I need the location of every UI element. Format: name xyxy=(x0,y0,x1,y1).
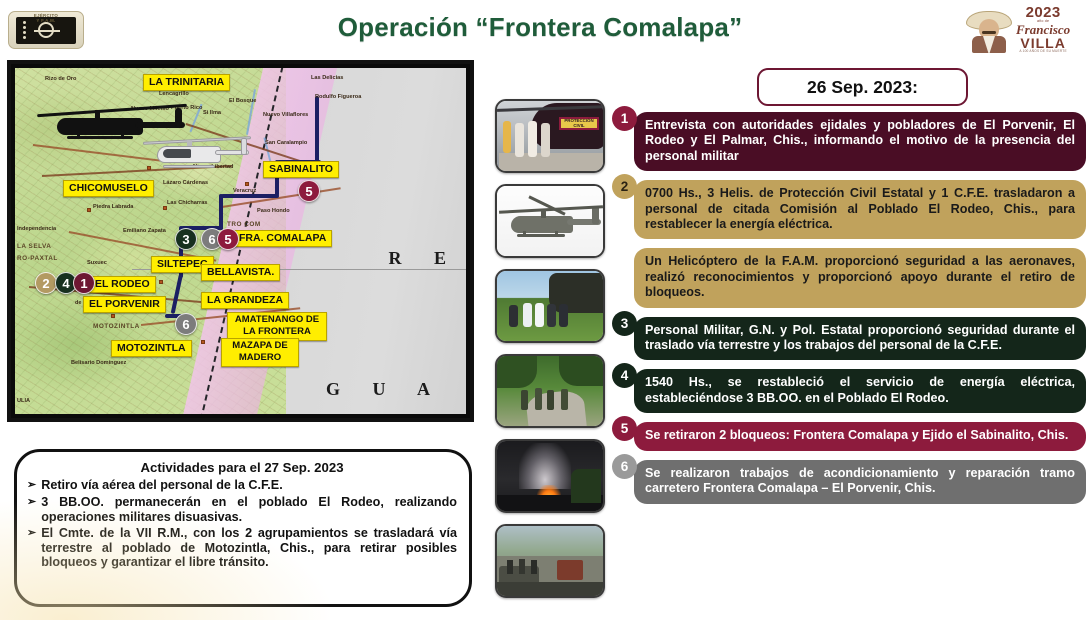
map-place-name: Las Delicias xyxy=(311,75,343,81)
map-place-name: Las Chicharras xyxy=(167,200,207,206)
map-place-name: Lázaro Cárdenas xyxy=(163,180,208,186)
map-label-el-rodeo[interactable]: EL RODEO xyxy=(89,276,156,293)
timeline-entry: Un Helicóptero de la F.A.M. proporcionó … xyxy=(612,248,1086,307)
map-place-name: LA SELVA xyxy=(17,244,51,250)
date-badge: 26 Sep. 2023: xyxy=(757,68,968,106)
map-place-name: El Bosque xyxy=(229,98,256,104)
map-place-name: Emiliano Zapata xyxy=(123,228,166,234)
map-region-letters: R E xyxy=(388,248,460,269)
timeline-entry: 3 Personal Militar, G.N. y Pol. Estatal … xyxy=(612,317,1086,361)
timeline-entry-text: 1540 Hs., se restableció el servicio de … xyxy=(634,369,1086,413)
map-route-segment xyxy=(315,96,319,162)
timeline-entry: 2 0700 Hs., 3 Helis. de Protección Civil… xyxy=(612,180,1086,239)
activities-box: Actividades para el 27 Sep. 2023 ➢ Retir… xyxy=(14,449,472,607)
map-place-name: Independencia xyxy=(17,226,56,232)
map-country-letters: G U A xyxy=(326,379,444,400)
map-point-marker xyxy=(87,208,91,212)
map-badge-2[interactable]: 2 xyxy=(35,272,57,294)
activities-title: Actividades para el 27 Sep. 2023 xyxy=(27,460,457,475)
map-label-motozintla[interactable]: MOTOZINTLA xyxy=(111,340,192,357)
operation-map[interactable]: R E G U A Rizo de Oro Las Delicias Rodul… xyxy=(7,60,474,422)
slide-root: EJÉRCITO Y F.A.M. Operación “Frontera Co… xyxy=(0,0,1092,620)
map-badge-3[interactable]: 3 xyxy=(175,228,197,250)
map-place-name: RO-PAXTAL xyxy=(17,256,58,262)
villa-footnote: A 100 AÑOS DE SU MUERTE xyxy=(1016,50,1070,53)
map-label-sabinalito[interactable]: SABINALITO xyxy=(263,161,339,178)
map-route-segment xyxy=(221,194,279,198)
map-place-name: Veracruz xyxy=(233,188,256,194)
bullet-arrow-icon: ➢ xyxy=(27,495,36,524)
timeline-entry-text: Se retiraron 2 bloqueos: Frontera Comala… xyxy=(634,422,1086,450)
activities-list-item: ➢ El Cmte. de la VII R.M., con los 2 agr… xyxy=(27,526,457,570)
map-label-bellavista[interactable]: BELLAVISTA. xyxy=(201,264,280,281)
map-place-name: TRO COM xyxy=(227,222,261,228)
timeline-number-badge: 6 xyxy=(612,454,637,479)
map-point-marker xyxy=(111,314,115,318)
photo-thumbnail[interactable] xyxy=(495,269,605,343)
activities-item-text: Retiro vía aérea del personal de la C.F.… xyxy=(41,478,457,493)
timeline-entry-text: 0700 Hs., 3 Helis. de Protección Civil E… xyxy=(634,180,1086,239)
activities-item-text: 3 BB.OO. permanecerán en el poblado El R… xyxy=(41,495,457,524)
francisco-villa-logo: 2023 año de Francisco VILLA A 100 AÑOS D… xyxy=(966,2,1084,56)
activities-item-text: El Cmte. de la VII R.M., con los 2 agrup… xyxy=(41,526,457,570)
map-place-name: San Caralampio xyxy=(265,140,307,146)
map-label-la-trinitaria[interactable]: LA TRINITARIA xyxy=(143,74,230,91)
timeline-number-badge: 1 xyxy=(612,106,637,131)
map-place-name: Si Ilma xyxy=(203,110,221,116)
map-badge-5-comalapa[interactable]: 5 xyxy=(217,228,239,250)
map-badge-6-motozintla[interactable]: 6 xyxy=(175,313,197,335)
timeline-number-badge: 3 xyxy=(612,311,637,336)
map-label-chicomuselo[interactable]: CHICOMUSELO xyxy=(63,180,154,197)
photo-thumbnail[interactable] xyxy=(495,184,605,258)
sedena-logo-text: EJÉRCITO Y F.A.M. xyxy=(8,13,84,23)
map-canvas: R E G U A Rizo de Oro Las Delicias Rodul… xyxy=(15,68,466,414)
map-place-name: ULIA xyxy=(17,398,30,404)
map-badge-1[interactable]: 1 xyxy=(73,272,95,294)
photo-thumbnail-column: PROTECCIÓNCIVIL xyxy=(495,99,605,609)
map-place-name: Suxuec xyxy=(87,260,107,266)
map-point-marker xyxy=(159,280,163,284)
timeline-entry: 5 Se retiraron 2 bloqueos: Frontera Coma… xyxy=(612,422,1086,450)
activities-list-item: ➢ Retiro vía aérea del personal de la C.… xyxy=(27,478,457,493)
map-place-name: Piedra Labrada xyxy=(93,204,133,210)
bullet-arrow-icon: ➢ xyxy=(27,478,36,493)
villa-year: 2023 xyxy=(1016,5,1070,20)
map-label-mazapa-de-madero[interactable]: MAZAPA DE MADERO xyxy=(221,338,299,367)
timeline-entry-text: Se realizaron trabajos de acondicionamie… xyxy=(634,460,1086,504)
map-place-name: Paso Hondo xyxy=(257,208,290,214)
map-place-name: Rizo de Oro xyxy=(45,76,76,82)
timeline-entry: 1 Entrevista con autoridades ejidales y … xyxy=(612,112,1086,171)
helicopter-light-icon xyxy=(143,130,253,174)
slide-header: EJÉRCITO Y F.A.M. Operación “Frontera Co… xyxy=(0,0,1092,58)
timeline-entry-text: Personal Militar, G.N. y Pol. Estatal pr… xyxy=(634,317,1086,361)
map-point-marker xyxy=(245,182,249,186)
map-label-fra-comalapa[interactable]: FRA. COMALAPA xyxy=(233,230,332,247)
timeline-entry-text: Un Helicóptero de la F.A.M. proporcionó … xyxy=(634,248,1086,307)
map-place-name: Rodulfo Figueroa xyxy=(315,94,361,100)
map-point-marker xyxy=(163,206,167,210)
bullet-arrow-icon: ➢ xyxy=(27,526,36,570)
timeline-list: 1 Entrevista con autoridades ejidales y … xyxy=(612,112,1086,513)
timeline-entry: 6 Se realizaron trabajos de acondicionam… xyxy=(612,460,1086,504)
map-point-marker xyxy=(201,340,205,344)
villa-portrait-icon xyxy=(966,5,1012,53)
photo-thumbnail[interactable] xyxy=(495,354,605,428)
timeline-entry-text: Entrevista con autoridades ejidales y po… xyxy=(634,112,1086,171)
map-badge-5-sabinalito[interactable]: 5 xyxy=(298,180,320,202)
timeline-entry: 4 1540 Hs., se restableció el servicio d… xyxy=(612,369,1086,413)
photo-thumbnail[interactable]: PROTECCIÓNCIVIL xyxy=(495,99,605,173)
map-label-la-grandeza[interactable]: LA GRANDEZA xyxy=(201,292,289,309)
photo-thumbnail[interactable] xyxy=(495,439,605,513)
sedena-logo-line2: Y F.A.M. xyxy=(8,18,84,23)
map-label-amatenango[interactable]: AMATENANGO DE LA FRONTERA xyxy=(227,312,327,341)
map-place-name: Belisario Domínguez xyxy=(71,360,126,366)
map-place-name: Nuevo Villaflores xyxy=(263,112,308,118)
map-place-name: MOTOZINTLA xyxy=(93,324,140,330)
photo-thumbnail[interactable] xyxy=(495,524,605,598)
page-title: Operación “Frontera Comalapa” xyxy=(150,12,930,43)
activities-list-item: ➢ 3 BB.OO. permanecerán en el poblado El… xyxy=(27,495,457,524)
map-label-el-porvenir[interactable]: EL PORVENIR xyxy=(83,296,166,313)
map-route-segment xyxy=(219,194,223,230)
